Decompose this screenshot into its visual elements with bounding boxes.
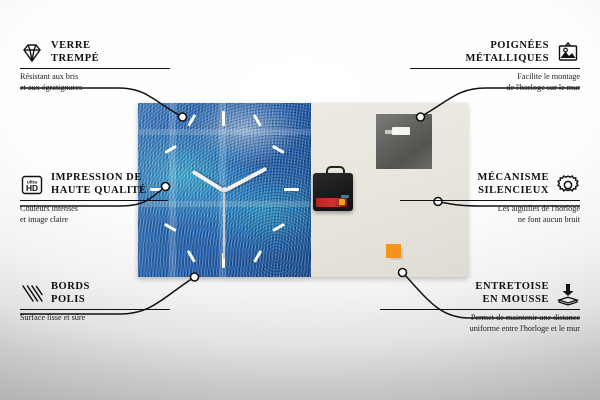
feature-bords-polis: BORDSPOLIS Surface lisse et sûre xyxy=(20,281,190,324)
diamond-icon xyxy=(20,41,44,65)
feature-title: VERRETREMPÉ xyxy=(51,40,99,65)
feature-description: Permet de maintenir une distanceuniforme… xyxy=(380,313,580,334)
infographic-canvas: VERRETREMPÉ Résistant aux briset aux égr… xyxy=(0,0,600,400)
feature-header: MÉCANISMESILENCIEUX xyxy=(400,172,580,197)
clock-pivot xyxy=(222,187,227,192)
feature-header: POIGNÉESMÉTALLIQUES xyxy=(410,40,580,65)
feature-description: Les aiguilles de l'horlogene font aucun … xyxy=(400,204,580,225)
feature-description: Surface lisse et sûre xyxy=(20,313,190,324)
clock-tick xyxy=(222,111,225,126)
clock-mechanism xyxy=(313,173,353,211)
feature-header: ENTRETOISEEN MOUSSE xyxy=(380,281,580,306)
divider xyxy=(380,309,580,310)
foam-spacer xyxy=(386,244,401,258)
feature-description: Couleurs intenseset image claire xyxy=(20,204,210,225)
divider xyxy=(20,309,170,310)
feature-header: BORDSPOLIS xyxy=(20,281,190,306)
feature-title: IMPRESSION DEHAUTE QUALITÉ xyxy=(51,172,147,197)
ultra-hd-icon: ultra HD xyxy=(20,173,44,197)
feature-header: ultra HD IMPRESSION DEHAUTE QUALITÉ xyxy=(20,172,210,197)
feature-title: BORDSPOLIS xyxy=(51,281,90,306)
clock-tick xyxy=(284,188,299,191)
svg-text:HD: HD xyxy=(26,183,38,193)
feature-title: POIGNÉESMÉTALLIQUES xyxy=(466,40,549,65)
feature-title: ENTRETOISEEN MOUSSE xyxy=(475,281,549,306)
divider xyxy=(20,68,170,69)
feature-header: VERRETREMPÉ xyxy=(20,40,190,65)
feature-title: MÉCANISMESILENCIEUX xyxy=(478,172,549,197)
gear-icon xyxy=(556,173,580,197)
feature-impression-haute-qualite: ultra HD IMPRESSION DEHAUTE QUALITÉ Coul… xyxy=(20,172,210,225)
feature-mecanisme-silencieux: MÉCANISMESILENCIEUX Les aiguilles de l'h… xyxy=(400,172,580,225)
clock-second-hand xyxy=(223,189,225,259)
wall-mount-frame-icon xyxy=(556,41,580,65)
foam-spacer-icon xyxy=(556,282,580,306)
feature-entretoise-en-mousse: ENTRETOISEEN MOUSSE Permet de maintenir … xyxy=(380,281,580,334)
battery xyxy=(316,198,347,207)
feature-description: Résistant aux briset aux égratignures xyxy=(20,72,190,93)
hanging-loop-icon xyxy=(326,166,345,177)
feature-verre-trempe: VERRETREMPÉ Résistant aux briset aux égr… xyxy=(20,40,190,93)
feature-description: Facilite le montagede l'horloge sur le m… xyxy=(410,72,580,93)
polished-edges-icon xyxy=(20,282,44,306)
divider xyxy=(400,200,580,201)
divider xyxy=(410,68,580,69)
divider xyxy=(20,200,168,201)
metal-hanger-plate xyxy=(376,114,432,169)
grid-line xyxy=(138,129,311,135)
feature-poignees-metalliques: POIGNÉESMÉTALLIQUES Facilite le montaged… xyxy=(410,40,580,93)
